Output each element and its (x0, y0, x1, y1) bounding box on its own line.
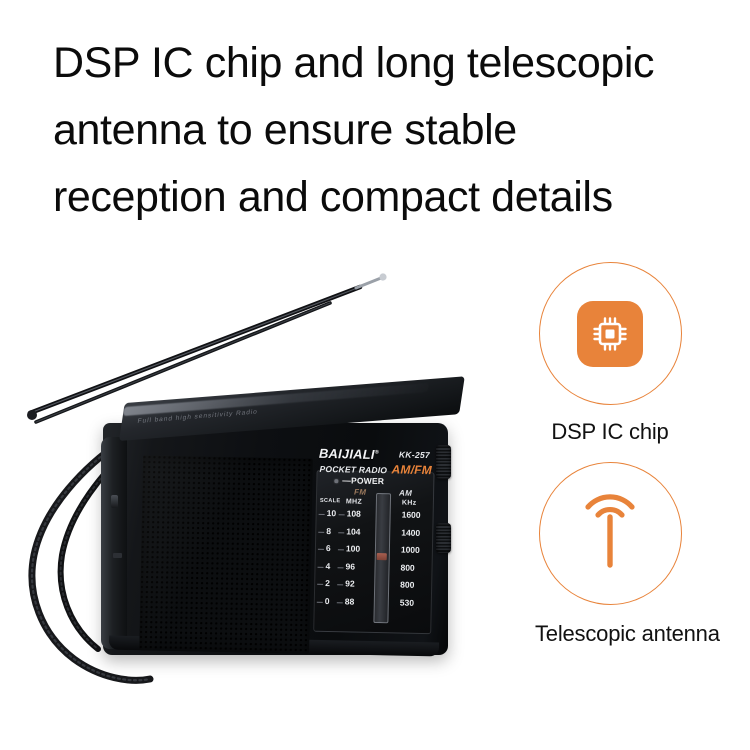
dial-header-khz: KHz (402, 500, 417, 507)
dial-scale-value: 8 (326, 525, 331, 535)
side-switch (113, 553, 122, 558)
power-led-icon (334, 479, 338, 483)
dial-mhz-value: 108 (347, 508, 361, 518)
tick-mark-icon (339, 514, 345, 515)
dial-khz-value: 530 (400, 597, 414, 607)
radio-left-edge (101, 437, 127, 649)
brand-logo: BAIJIALI® (319, 446, 379, 462)
dial-scale-value: 0 (325, 595, 330, 605)
tick-mark-icon (338, 549, 344, 550)
front-panel: BAIJIALI® KK-257 POCKET RADIO AM/FM —POW… (313, 442, 437, 649)
power-label: —POWER (342, 475, 384, 486)
tick-mark-icon (337, 584, 343, 585)
antenna-signal-icon (570, 491, 650, 577)
am-column-label: AM (399, 488, 412, 497)
dial-header-mhz: MHZ (346, 498, 362, 505)
tick-mark-icon (318, 531, 324, 532)
dial-khz-value: 800 (400, 562, 414, 572)
headline-line-1: DSP IC chip and long telescopic (53, 30, 713, 97)
feature-circle-outline (539, 262, 682, 405)
tick-mark-icon (319, 514, 325, 515)
headline-line-2: antenna to ensure stable (53, 97, 713, 164)
tuning-wheel[interactable] (436, 445, 451, 479)
dial-khz-value: 1000 (401, 545, 420, 555)
dial-mhz-value: 100 (346, 543, 360, 553)
feature-label: DSP IC chip (535, 419, 685, 445)
dial-khz-value: 800 (400, 580, 414, 590)
dial-khz-value: 1600 (402, 510, 421, 520)
dial-scale-value: 10 (327, 508, 337, 518)
tick-mark-icon (317, 601, 323, 602)
trademark-symbol: ® (375, 450, 379, 456)
dial-khz-value: 1400 (401, 527, 420, 537)
side-jack (111, 495, 118, 508)
dial-mhz-value: 92 (345, 578, 355, 588)
model-number: KK-257 (399, 449, 430, 460)
feature-label: Telescopic antenna (535, 621, 685, 647)
speaker-grille (139, 455, 313, 653)
tick-mark-icon (338, 532, 344, 533)
tick-mark-icon (318, 566, 324, 567)
dial-mhz-value: 104 (346, 526, 360, 536)
headline-line-3: reception and compact details (53, 164, 713, 231)
headline-block: DSP IC chip and long telescopic antenna … (53, 30, 713, 231)
tuning-needle (376, 553, 386, 560)
feature-telescopic-antenna: Telescopic antenna (535, 462, 685, 647)
product-photo: Full band high sensitivity Radio BAIJIAL… (0, 255, 500, 705)
fm-column-label: FM (354, 488, 366, 497)
product-category: POCKET RADIO (319, 464, 387, 475)
tick-mark-icon (337, 602, 343, 603)
dial-scale-value: 6 (326, 543, 331, 553)
volume-wheel[interactable] (436, 523, 451, 553)
feature-circle-outline (539, 462, 682, 605)
dial-mhz-value: 88 (345, 596, 355, 606)
dial-scale-value: 2 (325, 578, 330, 588)
cpu-chip-icon (588, 312, 632, 356)
radio-body: Full band high sensitivity Radio BAIJIAL… (103, 403, 448, 658)
product-feature-image: DSP IC chip and long telescopic antenna … (0, 0, 750, 750)
chip-tile (577, 301, 643, 367)
dial-mhz-value: 96 (345, 561, 355, 571)
band-label: AM/FM (391, 462, 432, 477)
dial-header-scale: SCALE (320, 498, 341, 504)
tick-mark-icon (318, 549, 324, 550)
tick-mark-icon (338, 567, 344, 568)
tick-mark-icon (317, 584, 323, 585)
brand-name: BAIJIALI (319, 446, 375, 462)
feature-dsp-ic-chip: DSP IC chip (535, 262, 685, 445)
dial-scale-value: 4 (325, 560, 330, 570)
